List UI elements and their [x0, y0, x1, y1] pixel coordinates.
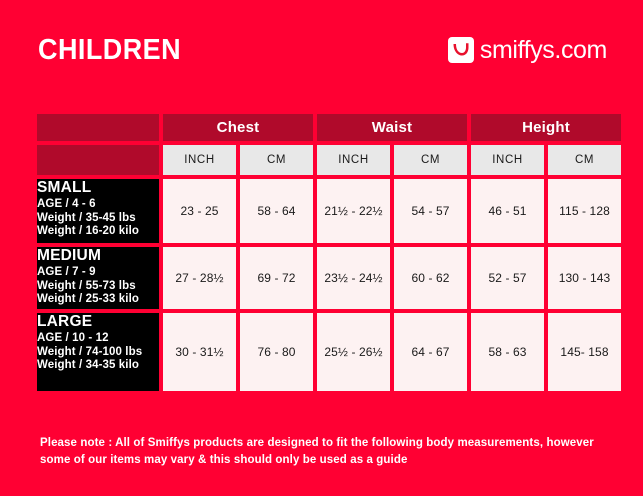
- smile-icon: [448, 37, 474, 63]
- size-chart-table: Chest Waist Height INCH CM INCH CM INCH …: [33, 110, 625, 395]
- cell-chest-cm: 58 - 64: [240, 179, 313, 243]
- cell-waist-inch: 23½ - 24½: [317, 247, 390, 309]
- size-weight-kilo: Weight / 16-20 kilo: [37, 225, 159, 239]
- unit-header-chest-cm: CM: [240, 145, 313, 175]
- unit-header-row: INCH CM INCH CM INCH CM: [37, 145, 621, 175]
- cell-waist-cm: 54 - 57: [394, 179, 467, 243]
- unit-header-waist-cm: CM: [394, 145, 467, 175]
- group-header-row: Chest Waist Height: [37, 114, 621, 141]
- size-name: MEDIUM: [37, 247, 159, 265]
- size-age: AGE / 10 - 12: [37, 332, 159, 346]
- cell-height-cm: 145- 158: [548, 313, 621, 391]
- brand-logo: smiffys.com: [448, 37, 607, 63]
- cell-chest-inch: 27 - 28½: [163, 247, 236, 309]
- page-title: CHILDREN: [38, 36, 181, 65]
- cell-height-inch: 46 - 51: [471, 179, 544, 243]
- table-row: MEDIUM AGE / 7 - 9 Weight / 55-73 lbs We…: [37, 247, 621, 309]
- disclaimer-note: Please note : All of Smiffys products ar…: [40, 435, 600, 468]
- unit-header-chest-inch: INCH: [163, 145, 236, 175]
- cell-waist-cm: 64 - 67: [394, 313, 467, 391]
- cell-height-cm: 130 - 143: [548, 247, 621, 309]
- size-weight-kilo: Weight / 34-35 kilo: [37, 359, 159, 373]
- group-header-waist: Waist: [317, 114, 467, 141]
- cell-height-inch: 52 - 57: [471, 247, 544, 309]
- table-corner-cell-lower: [37, 145, 159, 175]
- cell-waist-inch: 21½ - 22½: [317, 179, 390, 243]
- cell-chest-inch: 23 - 25: [163, 179, 236, 243]
- size-weight-kilo: Weight / 25-33 kilo: [37, 293, 159, 307]
- page-header: CHILDREN smiffys.com: [0, 0, 643, 100]
- size-label-cell-large: LARGE AGE / 10 - 12 Weight / 74-100 lbs …: [37, 313, 159, 391]
- cell-height-inch: 58 - 63: [471, 313, 544, 391]
- size-weight-lbs: Weight / 74-100 lbs: [37, 346, 159, 360]
- unit-header-height-cm: CM: [548, 145, 621, 175]
- cell-chest-cm: 69 - 72: [240, 247, 313, 309]
- size-age: AGE / 7 - 9: [37, 266, 159, 280]
- size-weight-lbs: Weight / 35-45 lbs: [37, 212, 159, 226]
- unit-header-height-inch: INCH: [471, 145, 544, 175]
- cell-height-cm: 115 - 128: [548, 179, 621, 243]
- brand-name: smiffys.com: [480, 38, 607, 63]
- table-row: LARGE AGE / 10 - 12 Weight / 74-100 lbs …: [37, 313, 621, 391]
- table-corner-cell: [37, 114, 159, 141]
- group-header-chest: Chest: [163, 114, 313, 141]
- size-name: LARGE: [37, 313, 159, 331]
- size-name: SMALL: [37, 179, 159, 197]
- cell-chest-inch: 30 - 31½: [163, 313, 236, 391]
- size-age: AGE / 4 - 6: [37, 198, 159, 212]
- group-header-height: Height: [471, 114, 621, 141]
- table-row: SMALL AGE / 4 - 6 Weight / 35-45 lbs Wei…: [37, 179, 621, 243]
- unit-header-waist-inch: INCH: [317, 145, 390, 175]
- size-label-cell-medium: MEDIUM AGE / 7 - 9 Weight / 55-73 lbs We…: [37, 247, 159, 309]
- cell-waist-inch: 25½ - 26½: [317, 313, 390, 391]
- cell-chest-cm: 76 - 80: [240, 313, 313, 391]
- size-weight-lbs: Weight / 55-73 lbs: [37, 280, 159, 294]
- cell-waist-cm: 60 - 62: [394, 247, 467, 309]
- size-label-cell-small: SMALL AGE / 4 - 6 Weight / 35-45 lbs Wei…: [37, 179, 159, 243]
